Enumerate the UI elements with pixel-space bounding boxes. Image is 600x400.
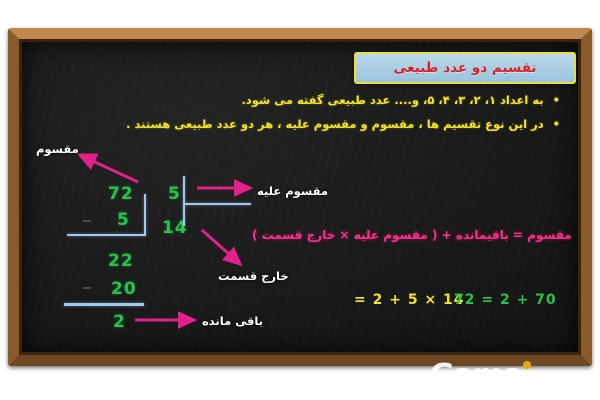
label-dividend: مقسوم [36, 142, 79, 156]
chalkboard: تقسیم دو عدد طبیعی • به اعداد ۱، ۲، ۳، ۴… [22, 42, 578, 352]
watermark-accent-dot-icon [523, 361, 531, 369]
division-difference-1: 22 [108, 251, 134, 271]
division-vertical-rule [144, 194, 146, 236]
equation-substituted: = 2 + 5 × 14 [354, 292, 465, 308]
equation-result: 72 = 2 + 70 [454, 292, 557, 308]
label-divisor: مقسوم علیه [257, 184, 328, 198]
division-partial-product-2: 20 [111, 279, 137, 299]
minus-sign-icon [83, 220, 91, 222]
division-dividend: 72 [108, 184, 134, 204]
division-divisor-rule [183, 176, 185, 226]
label-remainder: باقی مانده [202, 314, 263, 328]
division-formula: مقسوم = باقیمانده + ( مقسوم علیه × خارج … [252, 228, 572, 242]
division-remainder-rule [64, 303, 144, 306]
slide-root: تقسیم دو عدد طبیعی • به اعداد ۱، ۲، ۳، ۴… [0, 0, 600, 400]
division-partial-product-1: 5 [117, 210, 130, 230]
division-subtract-rule [67, 234, 145, 236]
division-quotient-rule [183, 203, 251, 205]
minus-sign-icon [83, 287, 91, 289]
label-quotient: خارج قسمت [218, 269, 289, 283]
division-divisor: 5 [168, 184, 181, 204]
watermark-text: Gama [430, 358, 522, 393]
watermark-logo: Gama [430, 358, 531, 393]
division-remainder: 2 [113, 312, 126, 332]
